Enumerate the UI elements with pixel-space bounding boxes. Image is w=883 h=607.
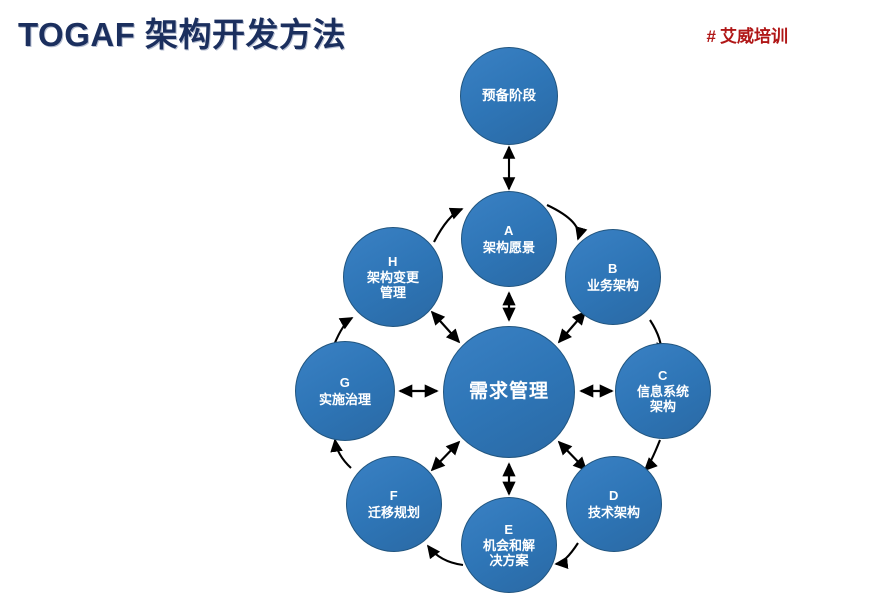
node-phase-f-code: F [390,488,398,503]
node-requirements-management-label: 需求管理 [469,381,549,403]
node-phase-b-code: B [608,261,618,276]
node-phase-b-label: 业务架构 [587,278,639,293]
node-phase-c-label: 信息系统 架构 [637,384,689,414]
node-phase-d-code: D [609,488,619,503]
connector-h-a [434,209,462,242]
node-phase-b[interactable]: B 业务架构 [565,229,661,325]
node-phase-f-label: 迁移规划 [368,505,420,520]
connector-layer [0,0,883,607]
node-phase-g[interactable]: G 实施治理 [295,341,395,441]
node-preliminary[interactable]: 预备阶段 [460,47,558,145]
node-phase-h[interactable]: H 架构变更 管理 [343,227,443,327]
node-phase-h-code: H [388,254,398,269]
node-phase-e-label: 机会和解 决方案 [483,538,535,568]
node-preliminary-label: 预备阶段 [482,88,536,104]
node-phase-d[interactable]: D 技术架构 [566,456,662,552]
node-phase-g-code: G [340,375,351,390]
node-phase-a-code: A [504,223,514,238]
node-phase-a-label: 架构愿景 [483,240,535,255]
node-phase-a[interactable]: A 架构愿景 [461,191,557,287]
spoke-center-f [432,442,459,470]
spoke-center-h [432,312,459,342]
connector-c-d [645,440,660,470]
node-phase-g-label: 实施治理 [319,392,371,407]
slide-canvas: TOGAF 架构开发方法 #艾威培训 [0,0,883,607]
node-phase-c[interactable]: C 信息系统 架构 [615,343,711,439]
node-phase-e-code: E [504,522,513,537]
node-requirements-management[interactable]: 需求管理 [443,326,575,458]
node-phase-f[interactable]: F 迁移规划 [346,456,442,552]
connector-e-f [428,546,463,565]
node-phase-c-code: C [658,368,668,383]
connector-f-g [335,440,351,468]
node-phase-h-label: 架构变更 管理 [367,270,419,300]
node-phase-d-label: 技术架构 [588,505,640,520]
node-phase-e[interactable]: E 机会和解 决方案 [461,497,557,593]
spoke-center-b [559,312,585,342]
togaf-adm-diagram: 预备阶段 需求管理 A 架构愿景 B 业务架构 C 信息系统 架构 D 技术架构… [0,0,883,607]
spoke-center-d [559,442,586,470]
connector-d-e [556,543,578,564]
